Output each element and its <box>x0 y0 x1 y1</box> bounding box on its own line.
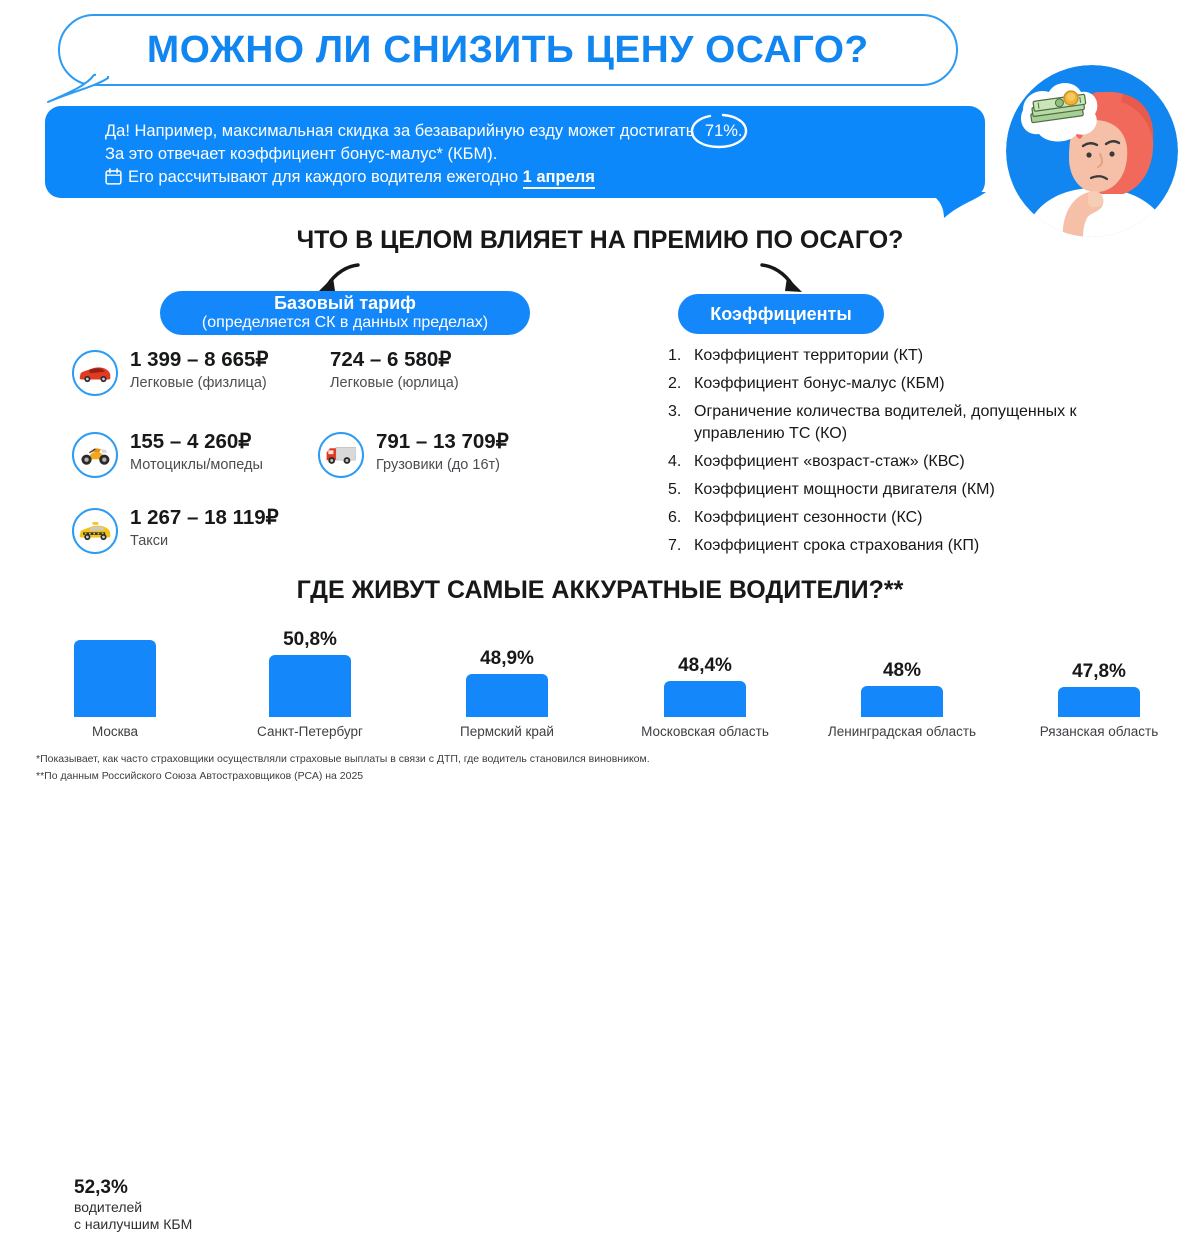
list-item-label: Коэффициент «возраст-стаж» (КВС) <box>694 451 1088 473</box>
list-item-label: Коэффициент территории (КТ) <box>694 345 1088 367</box>
page-title: МОЖНО ЛИ СНИЗИТЬ ЦЕНУ ОСАГО? <box>147 29 869 72</box>
moscow-value: 52,3% <box>74 1177 284 1199</box>
vehicle-text: 724 – 6 580₽ Легковые (юрлица) <box>330 348 459 393</box>
vehicle-price: 1 399 – 8 665₽ <box>130 348 268 372</box>
motorcycle-icon <box>72 432 118 478</box>
list-item: 1. Коэффициент территории (КТ) <box>668 345 1088 367</box>
list-item-number: 1. <box>668 345 694 367</box>
base-tariff-subtitle: (определяется СК в данных пределах) <box>202 313 488 332</box>
bar-value: 48% <box>861 660 943 682</box>
list-item-number: 5. <box>668 479 694 501</box>
list-item: 5. Коэффициент мощности двигателя (КМ) <box>668 479 1088 501</box>
vehicle-text: 791 – 13 709₽ Грузовики (до 16т) <box>376 430 509 475</box>
list-item-label: Коэффициент сезонности (КС) <box>694 507 1088 529</box>
title-bubble-tail-icon <box>46 72 116 104</box>
list-item-label: Коэффициент бонус-малус (КБМ) <box>694 373 1088 395</box>
moscow-annotation: 52,3% водителей с наилучшим КБМ <box>74 1177 284 1233</box>
annotation-line-1: водителей <box>74 1199 284 1216</box>
vehicle-row-truck: 791 – 13 709₽ Грузовики (до 16т) <box>318 430 509 478</box>
coefficients-title: Коэффициенты <box>710 304 851 325</box>
bar-rect <box>861 686 943 717</box>
arrow-right-icon <box>756 262 808 298</box>
illustration-svg <box>1003 62 1181 240</box>
car-red-glyph <box>78 363 112 384</box>
annotation-line-2: с наилучшим КБМ <box>74 1216 284 1233</box>
footnote-2: **По данным Российского Союза Автострахо… <box>36 770 363 782</box>
bar-value: 50,8% <box>269 629 351 651</box>
intro-line-1: Да! Например, максимальная скидка за без… <box>105 120 963 143</box>
bar-column <box>74 640 156 717</box>
bar-column: 50,8% <box>269 629 351 717</box>
vehicle-caption: Мотоциклы/мопеды <box>130 455 263 475</box>
vehicle-text: 155 – 4 260₽ Мотоциклы/мопеды <box>130 430 263 475</box>
list-item-number: 2. <box>668 373 694 395</box>
bar-value: 48,9% <box>466 648 548 670</box>
vehicle-price: 724 – 6 580₽ <box>330 348 459 372</box>
base-tariff-pill[interactable]: Базовый тариф (определяется СК в данных … <box>160 291 530 335</box>
truck-glyph <box>324 444 358 466</box>
list-item-number: 4. <box>668 451 694 473</box>
vehicle-text: 1 399 – 8 665₽ Легковые (физлица) <box>130 348 268 393</box>
coefficients-pill[interactable]: Коэффициенты <box>678 294 884 334</box>
list-item: 6. Коэффициент сезонности (КС) <box>668 507 1088 529</box>
vehicle-caption: Легковые (физлица) <box>130 373 268 393</box>
bar-rect <box>466 674 548 717</box>
percent-value: 71%. <box>705 122 743 140</box>
bar-column: 47,8% <box>1058 661 1140 717</box>
vehicle-caption: Легковые (юрлица) <box>330 373 459 393</box>
bar-value: 48,4% <box>664 655 746 677</box>
percent-highlight: 71%. <box>699 120 749 143</box>
bar-label: Ленинградская область <box>821 724 983 739</box>
list-item-label: Коэффициент мощности двигателя (КМ) <box>694 479 1088 501</box>
intro-callout: Да! Например, максимальная скидка за без… <box>45 106 985 198</box>
title-speech-bubble: МОЖНО ЛИ СНИЗИТЬ ЦЕНУ ОСАГО? <box>58 14 958 86</box>
thinking-person-money-illustration <box>1003 62 1181 240</box>
bar-rect <box>269 655 351 717</box>
base-tariff-title: Базовый тариф <box>274 294 416 313</box>
vehicle-text: 1 267 – 18 119₽ Такси <box>130 506 279 551</box>
vehicle-price: 791 – 13 709₽ <box>376 430 509 454</box>
footnote-1: *Показывает, как часто страховщики осуще… <box>36 753 650 765</box>
vehicle-row-car-company: 724 – 6 580₽ Легковые (юрлица) <box>318 348 459 393</box>
section-1-heading: ЧТО В ЦЕЛОМ ВЛИЯЕТ НА ПРЕМИЮ ПО ОСАГО? <box>0 226 1200 255</box>
list-item: 2. Коэффициент бонус-малус (КБМ) <box>668 373 1088 395</box>
list-item-number: 3. <box>668 401 694 445</box>
intro-line-3-text: Его рассчитывают для каждого водителя еж… <box>128 168 518 186</box>
taxi-icon <box>72 508 118 554</box>
list-item-number: 7. <box>668 535 694 557</box>
vehicle-row-car-private: 1 399 – 8 665₽ Легковые (физлица) <box>72 348 268 396</box>
infographic-canvas: МОЖНО ЛИ СНИЗИТЬ ЦЕНУ ОСАГО? Да! Наприме… <box>0 0 1200 780</box>
motorcycle-glyph <box>78 444 112 466</box>
bar-rect <box>74 640 156 717</box>
taxi-glyph <box>78 521 112 542</box>
vehicle-caption: Грузовики (до 16т) <box>376 455 509 475</box>
bar-label: Пермский край <box>426 724 588 739</box>
vehicle-price: 155 – 4 260₽ <box>130 430 263 454</box>
coefficients-list: 1. Коэффициент территории (КТ) 2. Коэффи… <box>668 345 1088 563</box>
list-item-label: Коэффициент срока страхования (КП) <box>694 535 1088 557</box>
intro-line-1-text: Да! Например, максимальная скидка за без… <box>105 122 694 140</box>
bar-column: 48,9% <box>466 648 548 717</box>
bar-column: 48% <box>861 660 943 717</box>
vehicle-row-taxi: 1 267 – 18 119₽ Такси <box>72 506 279 554</box>
truck-icon <box>318 432 364 478</box>
list-item-number: 6. <box>668 507 694 529</box>
intro-line-3: Его рассчитывают для каждого водителя еж… <box>105 166 963 189</box>
bar-label: Московская область <box>624 724 786 739</box>
intro-callout-tail-icon <box>930 192 992 220</box>
bar-rect <box>1058 687 1140 717</box>
bar-rect <box>664 681 746 717</box>
intro-line-2: За это отвечает коэффициент бонус-малус*… <box>105 143 963 166</box>
bar-column: 48,4% <box>664 655 746 717</box>
list-item: 4. Коэффициент «возраст-стаж» (КВС) <box>668 451 1088 473</box>
list-item: 7. Коэффициент срока страхования (КП) <box>668 535 1088 557</box>
bar-label: Рязанская область <box>1018 724 1180 739</box>
vehicle-caption: Такси <box>130 531 279 551</box>
bar-value: 47,8% <box>1058 661 1140 683</box>
bar-label: Санкт-Петербург <box>229 724 391 739</box>
bar-label: Москва <box>34 724 196 739</box>
date-highlight: 1 апреля <box>523 168 595 189</box>
vehicle-row-motorcycle: 155 – 4 260₽ Мотоциклы/мопеды <box>72 430 263 478</box>
list-item-label: Ограничение количества водителей, допуще… <box>694 401 1088 445</box>
vehicle-price: 1 267 – 18 119₽ <box>130 506 279 530</box>
car-red-icon <box>72 350 118 396</box>
list-item: 3. Ограничение количества водителей, доп… <box>668 401 1088 445</box>
kbm-bar-chart: 52,3% водителей с наилучшим КБМ Москва 5… <box>0 585 1200 745</box>
calendar-icon <box>105 168 122 185</box>
